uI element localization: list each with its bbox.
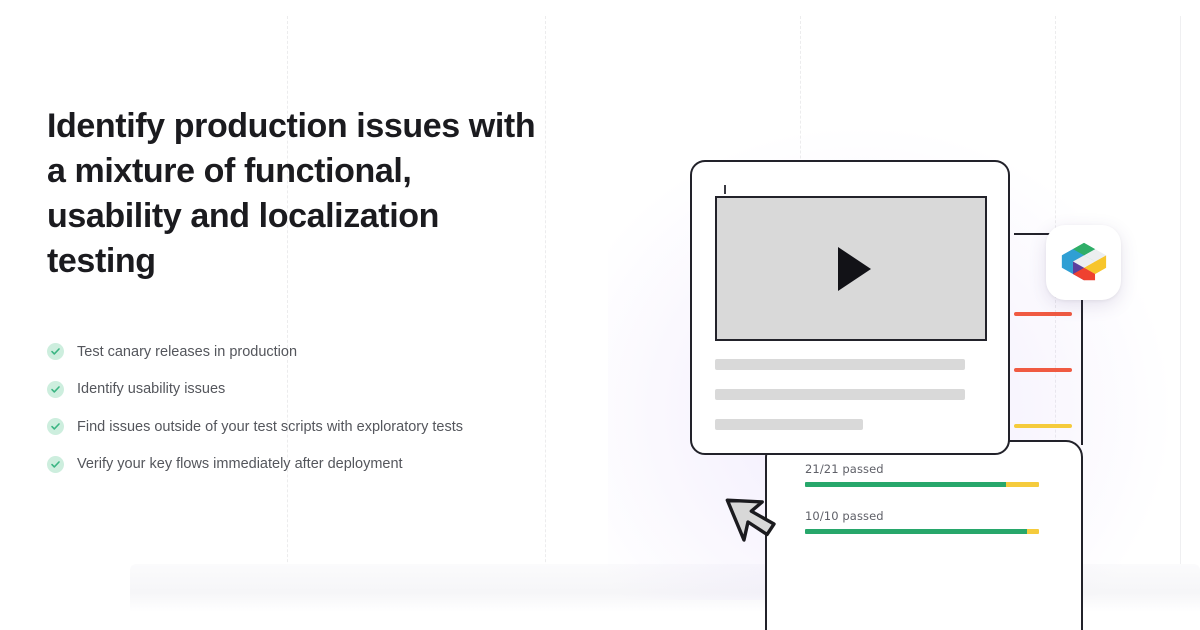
error-stub-line [1014,312,1072,316]
play-icon[interactable] [838,247,871,291]
frame-tick-mark [724,185,726,194]
check-circle-icon [47,418,64,435]
progress-passed-segment [805,529,1027,534]
list-item: Verify your key flows immediately after … [47,446,567,484]
feature-label: Test canary releases in production [77,343,297,361]
hexagon-logo-icon [1060,239,1108,287]
progress-bar [805,482,1039,487]
feature-label: Verify your key flows immediately after … [77,455,403,473]
feature-label: Find issues outside of your test scripts… [77,418,463,436]
warning-stub-line [1014,424,1072,428]
result-row: 10/10 passed [805,509,1039,534]
check-circle-icon [47,381,64,398]
skeleton-line [715,359,965,370]
check-circle-icon [47,456,64,473]
list-item: Identify usability issues [47,371,567,409]
product-illustration: 21/21 passed 10/10 passed [600,140,1200,590]
result-label: 10/10 passed [805,509,1039,523]
video-placeholder[interactable] [715,196,987,341]
list-item: Find issues outside of your test scripts… [47,408,567,446]
video-preview-card [690,160,1010,455]
page-stage: Identify production issues with a mixtur… [0,0,1200,630]
page-title: Identify production issues with a mixtur… [47,104,547,284]
logo-connector-vertical [1081,280,1083,445]
feature-label: Identify usability issues [77,380,225,398]
skeleton-line [715,419,863,430]
check-circle-icon [47,343,64,360]
skeleton-line [715,389,965,400]
brand-logo-badge [1046,225,1121,300]
feature-list: Test canary releases in production Ident… [47,333,567,483]
progress-warning-segment [1027,529,1039,534]
hero-copy: Identify production issues with a mixtur… [47,104,547,284]
list-item: Test canary releases in production [47,333,567,371]
test-results-card: 21/21 passed 10/10 passed [765,440,1083,630]
result-label: 21/21 passed [805,462,1039,476]
mouse-pointer-icon [722,462,810,542]
error-stub-line [1014,368,1072,372]
progress-bar [805,529,1039,534]
progress-warning-segment [1006,482,1039,487]
progress-passed-segment [805,482,1006,487]
result-row: 21/21 passed [805,462,1039,487]
